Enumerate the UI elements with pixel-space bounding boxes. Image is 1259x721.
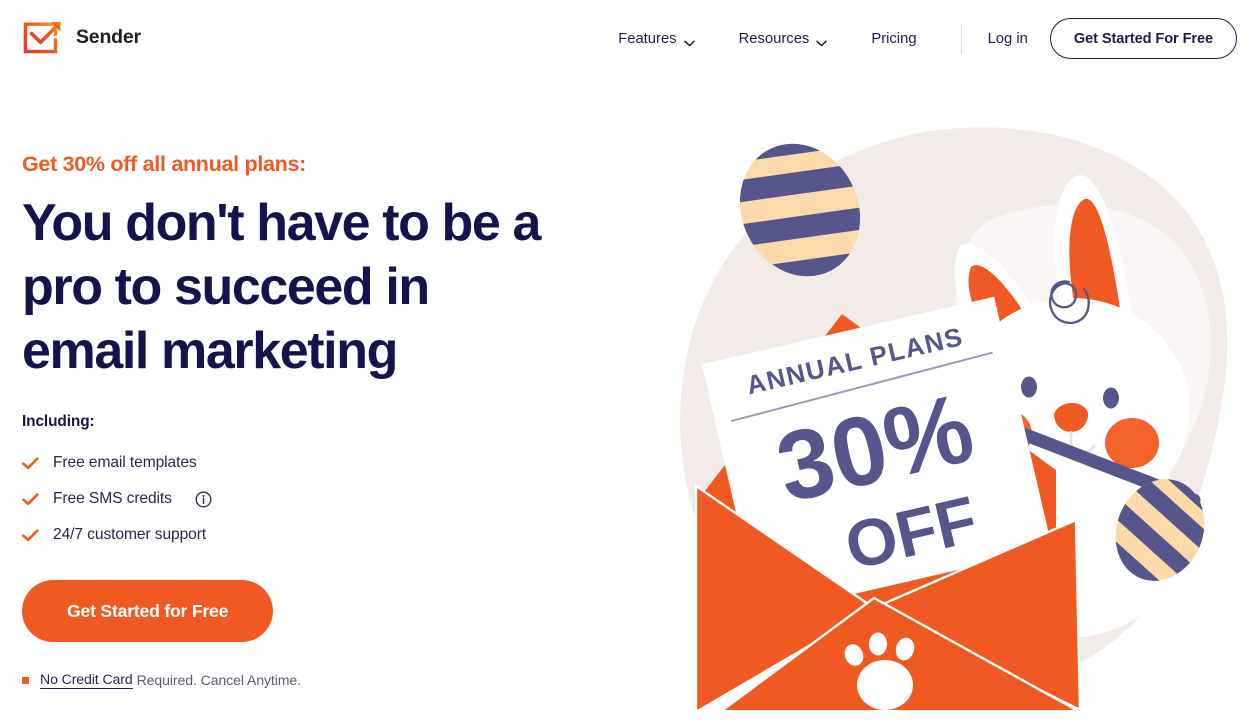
feature-list: Free email templates Free SMS credits bbox=[22, 445, 562, 553]
cta-container: Get Started for Free bbox=[22, 580, 562, 642]
brand-name: Sender bbox=[76, 28, 141, 48]
nav-item-pricing-label: Pricing bbox=[871, 31, 916, 47]
brand-logo-link[interactable]: Sender bbox=[22, 18, 141, 58]
feature-label: Free email templates bbox=[53, 454, 197, 472]
check-icon bbox=[22, 493, 39, 506]
nav-item-features[interactable]: Features bbox=[618, 25, 694, 53]
hero-copy: Get 30% off all annual plans: You don't … bbox=[22, 152, 562, 689]
nav-item-resources[interactable]: Resources bbox=[739, 25, 828, 53]
check-icon bbox=[22, 457, 39, 470]
chevron-down-icon bbox=[684, 35, 695, 42]
nav-item-resources-label: Resources bbox=[739, 31, 810, 47]
list-item: Free email templates bbox=[22, 445, 562, 481]
disclaimer-rest: Required. Cancel Anytime. bbox=[137, 672, 301, 688]
promo-eyebrow: Get 30% off all annual plans: bbox=[22, 152, 562, 178]
feature-label: Free SMS credits bbox=[53, 490, 172, 508]
list-item: 24/7 customer support bbox=[22, 517, 562, 553]
disclaimer: No Credit Card Required. Cancel Anytime. bbox=[22, 671, 562, 689]
page-title: You don't have to be a pro to succeed in… bbox=[22, 191, 562, 384]
chevron-down-icon bbox=[816, 35, 827, 42]
site-header: Sender Features Resources Pricing Log in bbox=[0, 0, 1259, 77]
including-label: Including: bbox=[22, 413, 562, 431]
header-get-started-button[interactable]: Get Started For Free bbox=[1050, 18, 1237, 59]
square-bullet-icon bbox=[22, 677, 29, 684]
hero-get-started-button[interactable]: Get Started for Free bbox=[22, 580, 273, 642]
nav-item-features-label: Features bbox=[618, 31, 676, 47]
nav-divider bbox=[961, 24, 962, 54]
login-link[interactable]: Log in bbox=[988, 31, 1028, 47]
envelope-check-arrow-icon bbox=[22, 18, 66, 58]
primary-nav: Features Resources Pricing Log in Get St… bbox=[618, 0, 1237, 77]
nav-item-pricing[interactable]: Pricing bbox=[871, 25, 916, 53]
info-circle-icon[interactable] bbox=[195, 491, 212, 508]
check-icon bbox=[22, 529, 39, 542]
feature-label: 24/7 customer support bbox=[53, 526, 206, 544]
disclaimer-highlight: No Credit Card bbox=[40, 671, 133, 689]
list-item: Free SMS credits bbox=[22, 481, 562, 517]
easter-bunny-envelope-illustration: ANNUAL PLANS 30% OFF bbox=[660, 100, 1259, 710]
